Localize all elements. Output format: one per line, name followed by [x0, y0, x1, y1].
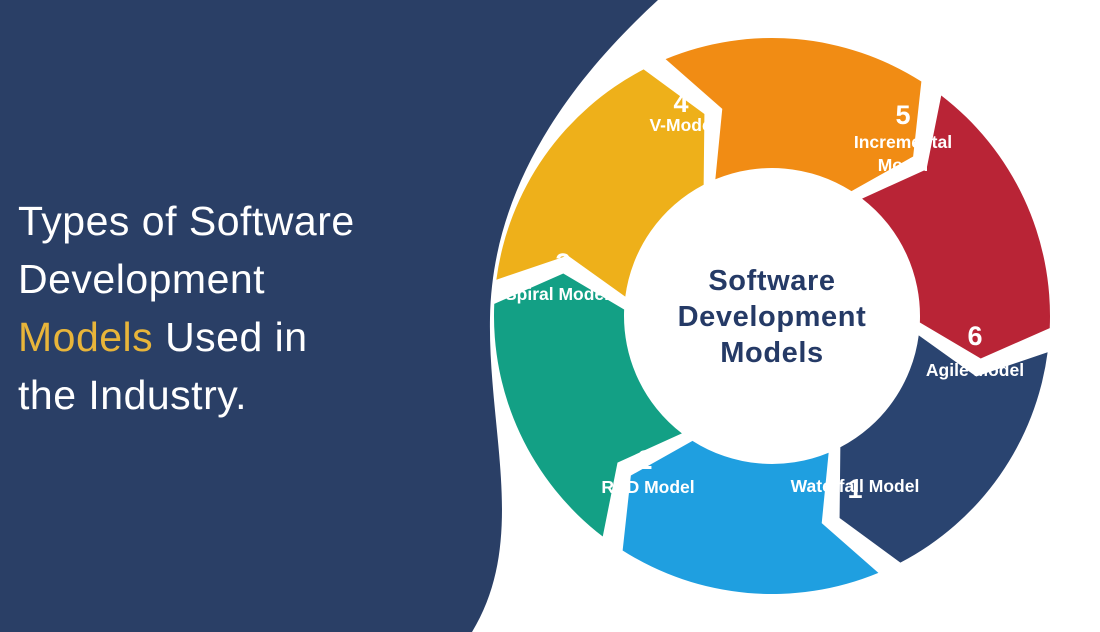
segment-number-5: 5	[895, 100, 910, 130]
segment-label-6: Agile Model	[926, 360, 1024, 380]
center-line-2: Development	[678, 301, 867, 333]
segment-number-3: 3	[555, 248, 570, 278]
segment-label-3: Spiral Model	[505, 284, 609, 304]
center-line-3: Models	[720, 337, 824, 369]
segment-label-5-line-2: Model	[878, 155, 929, 175]
segment-number-4: 4	[673, 88, 688, 118]
segment-label-2: RAD Model	[601, 477, 694, 497]
segment-label-5: Incremental	[854, 132, 952, 152]
segment-number-2: 2	[637, 445, 652, 475]
segment-number-6: 6	[967, 321, 982, 351]
infographic-page: Types of Software Development Models Use…	[0, 0, 1100, 632]
segment-label-4: V-Model	[649, 115, 716, 135]
segment-label-1: Waterfall Model	[791, 476, 920, 496]
center-line-1: Software	[708, 265, 835, 297]
software-models-donut-chart: Software Development Models 1Waterfall M…	[0, 0, 1100, 632]
